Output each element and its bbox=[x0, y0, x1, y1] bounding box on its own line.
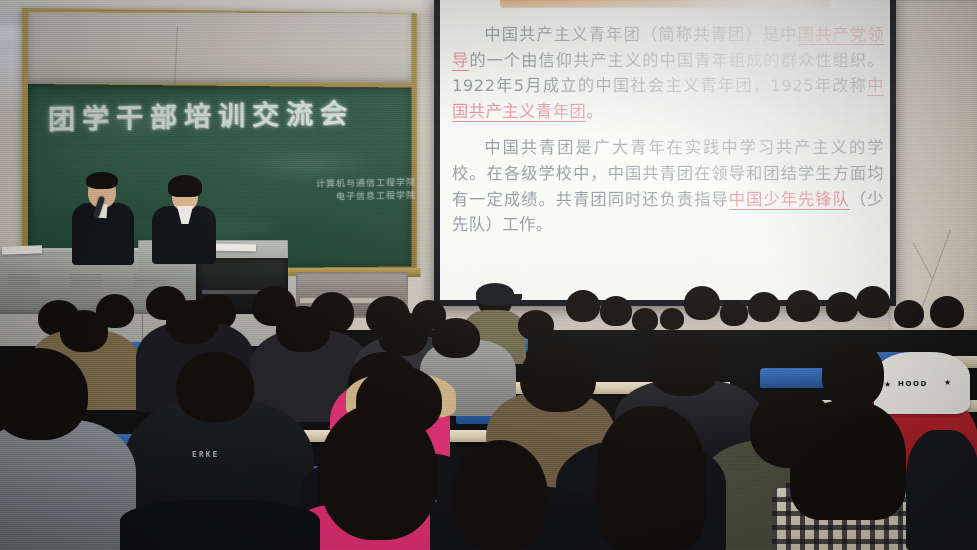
audience-head bbox=[432, 318, 480, 358]
lecture-hall-photo: 团学干部培训交流会 计算机与通信工程学院 电子信息工程学院 关于共青团 中国共产… bbox=[0, 0, 977, 550]
slide-p1-seg1: 中国共产主义青年团（简称共青团）是中 bbox=[484, 25, 797, 44]
audience-head bbox=[596, 406, 706, 550]
projection-screen: 关于共青团 中国共产主义青年团（简称共青团）是中国共产党领导的一个由信仰共产主义… bbox=[440, 0, 890, 300]
hood-star-right-icon: ★ bbox=[944, 378, 951, 387]
audience-body-dark-bottom-right bbox=[906, 430, 977, 550]
audience-head bbox=[822, 340, 884, 408]
audience-head bbox=[684, 286, 720, 320]
audience-head bbox=[856, 286, 890, 318]
hood-text: HOOD bbox=[898, 380, 928, 388]
cap-brim bbox=[506, 294, 522, 302]
audience-body-grey bbox=[0, 420, 136, 550]
audience-head bbox=[518, 310, 554, 340]
jacket-brand-logo: ERKE bbox=[192, 450, 219, 459]
audience-head bbox=[894, 300, 924, 328]
audience-head bbox=[60, 310, 108, 352]
audience-head bbox=[930, 296, 964, 328]
audience-head bbox=[566, 290, 600, 322]
audience-head bbox=[600, 296, 632, 326]
audience-head bbox=[320, 410, 438, 540]
audience-head bbox=[632, 308, 658, 332]
slide-paragraph-2: 中国共青团是广大青年在实践中学习共产主义的学校。在各级学校中，中国共青团在领导和… bbox=[452, 135, 884, 237]
blackboard-subtitle-line-2: 电子信息工程学院 bbox=[316, 190, 416, 205]
slide-banner: 关于共青团 bbox=[500, 0, 830, 8]
slide-body: 中国共产主义青年团（简称共青团）是中国共产党领导的一个由信仰共产主义的中国青年组… bbox=[452, 22, 884, 238]
audience-head bbox=[748, 292, 780, 322]
blackboard-title: 团学干部培训交流会 bbox=[48, 90, 418, 137]
paper-on-lectern bbox=[210, 244, 256, 252]
panel-seam bbox=[174, 26, 178, 89]
audience-head bbox=[786, 290, 820, 322]
audience-head bbox=[520, 342, 596, 412]
audience-head bbox=[648, 330, 720, 396]
slide-p1-seg2: 的一个由信仰共产主义的中国青年组成的群众性组织。1922年5月成立的中国社会主义… bbox=[452, 51, 884, 96]
audience-head bbox=[166, 300, 218, 344]
audience-head bbox=[276, 306, 330, 352]
audience-head bbox=[0, 348, 88, 440]
audience-head bbox=[176, 352, 254, 422]
slide-p2-highlight-1: 中国少年先锋队 bbox=[729, 190, 850, 210]
blackboard-upper-white-panel bbox=[28, 12, 412, 84]
slide-paragraph-1: 中国共产主义青年团（简称共青团）是中国共产党领导的一个由信仰共产主义的中国青年组… bbox=[452, 22, 884, 124]
slide-p1-seg3: 。 bbox=[586, 102, 603, 121]
audience-head bbox=[826, 292, 858, 322]
hood-star-left-icon: ★ bbox=[884, 380, 891, 389]
blackboard-subtitle: 计算机与通信工程学院 电子信息工程学院 bbox=[316, 177, 416, 205]
paper-on-podium bbox=[2, 245, 42, 254]
audience-head bbox=[790, 400, 906, 520]
audience-body-foreground bbox=[120, 500, 320, 550]
audience-head bbox=[452, 440, 548, 550]
audience-head bbox=[660, 308, 684, 330]
audience-head bbox=[720, 300, 748, 326]
audience-head bbox=[378, 312, 428, 356]
